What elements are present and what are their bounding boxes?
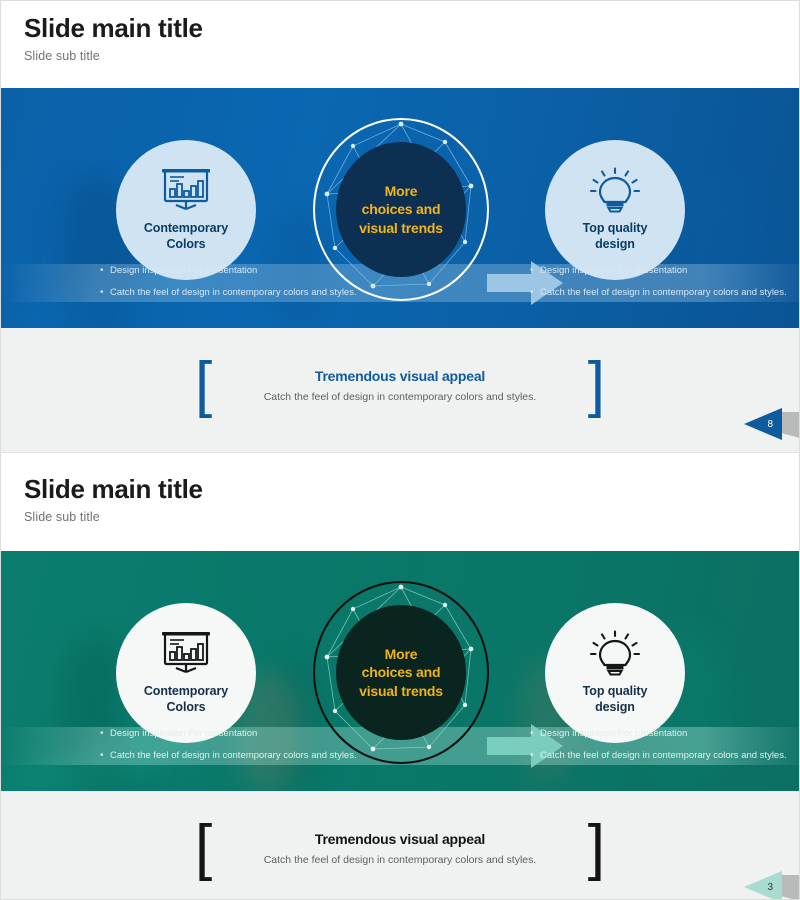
page-title: Slide main title (24, 14, 800, 44)
slide-1-hero-band: ContemporaryColors (0, 88, 800, 328)
bullet-marker-icon: • (530, 749, 540, 763)
list-item-text: Design inspiration For presentation (540, 727, 790, 741)
page-title: Slide main title (24, 475, 800, 505)
quote-body: Tremendous visual appeal Catch the feel … (228, 831, 572, 866)
presentation-chart-icon (156, 167, 216, 215)
page-subtitle: Slide sub title (24, 510, 800, 524)
list-item-text: Catch the feel of design in contemporary… (110, 286, 360, 300)
bullet-list-right: • Design inspiration For presentation • … (530, 727, 790, 771)
list-item: • Catch the feel of design in contempora… (530, 286, 790, 300)
node-label: Top qualitydesign (583, 684, 648, 715)
lightbulb-icon (585, 630, 645, 678)
node-contemporary-colors[interactable]: ContemporaryColors (116, 140, 256, 280)
list-item-text: Catch the feel of design in contemporary… (540, 749, 790, 763)
bullet-marker-icon: • (100, 727, 110, 741)
presentation-preview-page: Slide main title Slide sub title (0, 0, 800, 900)
node-label: Top qualitydesign (583, 221, 648, 252)
page-subtitle: Slide sub title (24, 49, 800, 63)
centre-disc: Morechoices andvisual trends (336, 605, 466, 740)
slide-2-hero-band: ContemporaryColors (0, 551, 800, 791)
list-item: • Catch the feel of design in contempora… (100, 749, 360, 763)
list-item-text: Design inspiration For presentation (110, 727, 360, 741)
quote-block: [ Tremendous visual appeal Catch the fee… (195, 354, 605, 416)
slide-1-footer: [ Tremendous visual appeal Catch the fee… (0, 328, 800, 452)
centre-label: Morechoices andvisual trends (359, 645, 443, 700)
bullet-list-right: • Design inspiration For presentation • … (530, 264, 790, 308)
presentation-chart-icon (156, 630, 216, 678)
list-item: • Design inspiration For presentation (100, 727, 360, 741)
list-item-text: Design inspiration For presentation (110, 264, 360, 278)
centre-disc: Morechoices andvisual trends (336, 142, 466, 277)
page-number: 3 (767, 882, 782, 893)
quote-subtitle: Catch the feel of design in contemporary… (228, 854, 572, 866)
bullet-marker-icon: • (530, 286, 540, 300)
list-item: • Design inspiration For presentation (530, 264, 790, 278)
bullet-marker-icon: • (100, 264, 110, 278)
quote-block: [ Tremendous visual appeal Catch the fee… (195, 817, 605, 879)
slide-1-header: Slide main title Slide sub title (0, 0, 800, 88)
list-item-text: Catch the feel of design in contemporary… (540, 286, 790, 300)
node-label: ContemporaryColors (144, 684, 228, 715)
slide-1[interactable]: Slide main title Slide sub title (0, 0, 800, 452)
page-number: 8 (767, 419, 782, 430)
quote-title: Tremendous visual appeal (315, 831, 485, 847)
page-number-badge[interactable]: 3 (728, 869, 800, 900)
node-top-quality-design[interactable]: Top qualitydesign (545, 140, 685, 280)
list-item: • Design inspiration For presentation (100, 264, 360, 278)
bullet-marker-icon: • (530, 264, 540, 278)
bullet-marker-icon: • (100, 749, 110, 763)
list-item-text: Design inspiration For presentation (540, 264, 790, 278)
slide-2-header: Slide main title Slide sub title (0, 453, 800, 551)
bullet-marker-icon: • (100, 286, 110, 300)
bullet-list-left: • Design inspiration For presentation • … (100, 264, 360, 308)
node-top-quality-design[interactable]: Top qualitydesign (545, 603, 685, 743)
badge-triangle: 3 (744, 871, 782, 900)
list-item: • Catch the feel of design in contempora… (530, 749, 790, 763)
list-item: • Design inspiration For presentation (530, 727, 790, 741)
node-label: ContemporaryColors (144, 221, 228, 252)
slide-2-footer: [ Tremendous visual appeal Catch the fee… (0, 791, 800, 900)
quote-subtitle: Catch the feel of design in contemporary… (228, 391, 572, 403)
quote-title: Tremendous visual appeal (315, 368, 485, 384)
quote-body: Tremendous visual appeal Catch the feel … (228, 368, 572, 403)
list-item-text: Catch the feel of design in contemporary… (110, 749, 360, 763)
bullet-marker-icon: • (530, 727, 540, 741)
slide-2[interactable]: Slide main title Slide sub title (0, 453, 800, 900)
bullet-list-left: • Design inspiration For presentation • … (100, 727, 360, 771)
list-item: • Catch the feel of design in contempora… (100, 286, 360, 300)
centre-label: Morechoices andvisual trends (359, 182, 443, 237)
page-number-badge[interactable]: 8 (728, 406, 800, 442)
node-contemporary-colors[interactable]: ContemporaryColors (116, 603, 256, 743)
lightbulb-icon (585, 167, 645, 215)
badge-triangle: 8 (744, 408, 782, 440)
